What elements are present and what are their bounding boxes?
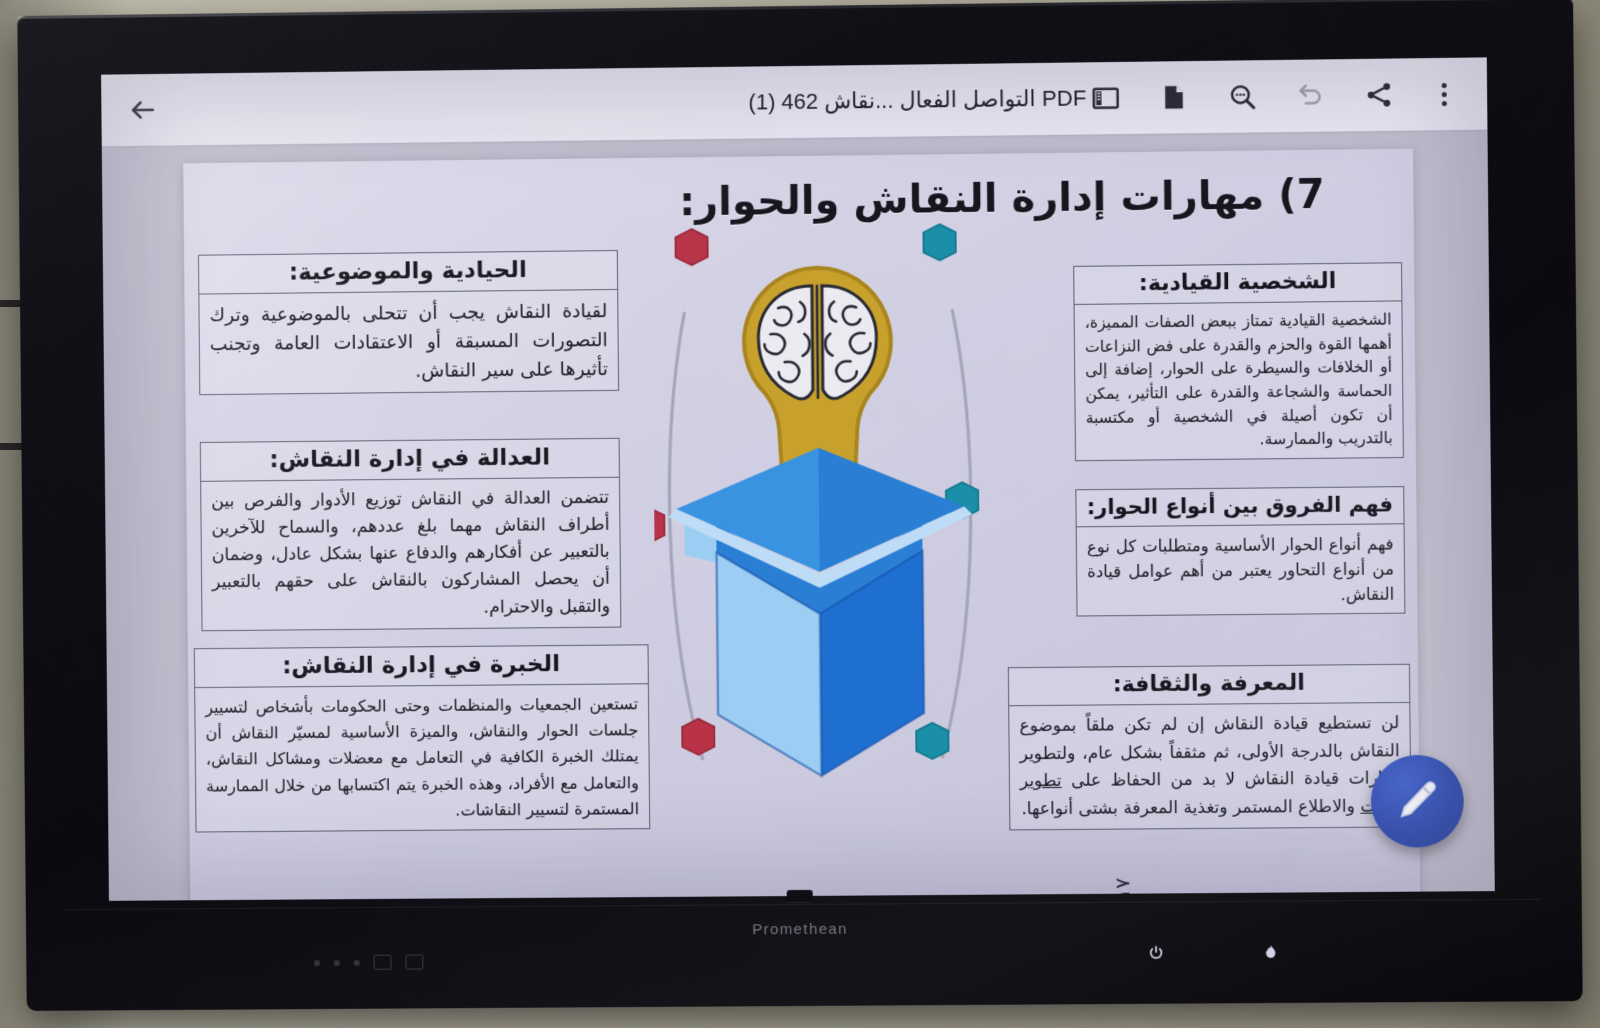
search-icon[interactable] bbox=[1223, 77, 1262, 116]
info-box-body: تستعين الجمعيات والمنظمات وحتى الحكومات … bbox=[195, 684, 649, 831]
bezel-hardware-buttons bbox=[1147, 943, 1280, 962]
knowledge-text-part1: لن تستطيع قيادة النقاش إن لم تكن ملقاً ب… bbox=[1019, 713, 1400, 791]
pdf-page: 7) مهارات إدارة النقاش والحوار: bbox=[183, 149, 1420, 901]
info-box-heading: فهم الفروق بين أنواع الحوار: bbox=[1076, 487, 1403, 527]
promethean-interactive-display: PDF التواصل الفعال ...نقاش 462 (1) bbox=[17, 0, 1582, 1011]
sidebar-panel-icon[interactable] bbox=[1086, 79, 1125, 118]
document-title: PDF التواصل الفعال ...نقاش 462 (1) bbox=[169, 85, 1087, 122]
ir-sensor-nub bbox=[787, 890, 813, 903]
knowledge-text-part2: والاطلاع المستمر وتغذية المعرفة بشتى أنو… bbox=[1021, 796, 1360, 819]
marker-hexagon-teal-top bbox=[923, 224, 955, 260]
marker-hexagon-red-mid bbox=[651, 507, 664, 543]
info-box-experience: الخبرة في إدارة النقاش: تستعين الجمعيات … bbox=[194, 644, 650, 832]
marker-hexagon-teal-bottom bbox=[916, 723, 948, 759]
info-box-body: فهم أنواع الحوار الأساسية ومتطلبات كل نو… bbox=[1077, 524, 1405, 615]
undo-icon[interactable] bbox=[1291, 76, 1330, 115]
info-box-dialogue-types: فهم الفروق بين أنواع الحوار: فهم أنواع ا… bbox=[1075, 486, 1405, 617]
info-box-heading: المعرفة والثقافة: bbox=[1009, 665, 1409, 706]
display-screen: PDF التواصل الفعال ...نقاش 462 (1) bbox=[101, 57, 1495, 901]
bezel-port-markings bbox=[314, 955, 424, 971]
info-box-fairness: العدالة في إدارة النقاش: تتضمن العدالة ف… bbox=[200, 438, 622, 631]
info-box-heading: الشخصية القيادية: bbox=[1074, 263, 1401, 305]
info-box-body: تتضمن العدالة في النقاش توزيع الأدوار وا… bbox=[201, 478, 620, 630]
flame-icon[interactable] bbox=[1262, 943, 1280, 961]
back-button[interactable] bbox=[117, 84, 169, 136]
info-box-heading: العدالة في إدارة النقاش: bbox=[201, 439, 619, 482]
pdf-viewport[interactable]: 7) مهارات إدارة النقاش والحوار: bbox=[102, 130, 1495, 901]
toolbar bbox=[1086, 74, 1487, 117]
overflow-menu-icon[interactable] bbox=[1428, 77, 1459, 112]
edit-pencil-button[interactable] bbox=[1370, 755, 1464, 848]
info-box-heading: الحيادية والموضوعية: bbox=[199, 251, 617, 295]
power-icon[interactable] bbox=[1147, 944, 1165, 962]
marker-hexagon-red-top bbox=[675, 229, 707, 265]
info-box-knowledge: المعرفة والثقافة: لن تستطيع قيادة النقاش… bbox=[1008, 664, 1412, 831]
info-box-body: لن تستطيع قيادة النقاش إن لم تكن ملقاً ب… bbox=[1009, 703, 1410, 830]
marker-hexagon-red-bottom bbox=[682, 719, 714, 755]
info-box-body: الشخصية القيادية تمتاز ببعض الصفات الممي… bbox=[1075, 301, 1403, 460]
info-box-body: لقيادة النقاش يجب أن تتحلى بالموضوعية وت… bbox=[199, 290, 618, 394]
back-arrow-icon bbox=[128, 95, 158, 125]
brain-lightbulb-in-box-illustration bbox=[651, 214, 987, 857]
share-icon[interactable] bbox=[1360, 76, 1399, 115]
info-box-neutrality: الحيادية والموضوعية: لقيادة النقاش يجب أ… bbox=[198, 250, 619, 395]
screenshot-root: PDF التواصل الفعال ...نقاش 462 (1) bbox=[0, 0, 1600, 1028]
pencil-icon bbox=[1394, 778, 1441, 825]
page-view-icon[interactable] bbox=[1155, 78, 1194, 117]
info-box-heading: الخبرة في إدارة النقاش: bbox=[195, 645, 648, 688]
info-box-leadership: الشخصية القيادية: الشخصية القيادية تمتاز… bbox=[1073, 262, 1404, 461]
